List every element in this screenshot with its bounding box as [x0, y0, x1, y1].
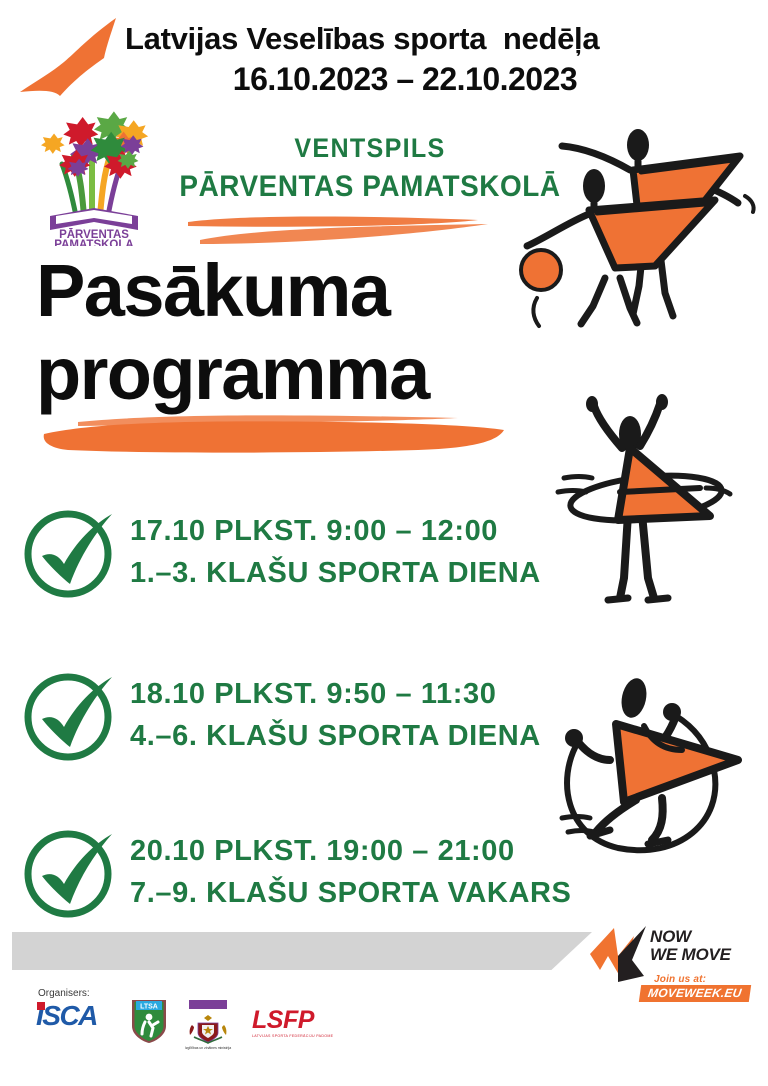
isca-red-dot-icon: [37, 1002, 45, 1010]
orange-swoosh-decoration: [178, 212, 508, 252]
figure-jump-rope-illustration: [552, 650, 766, 860]
green-check-circle-icon: [20, 500, 124, 604]
event-text: 20.10 PLKST. 19:00 – 21:00 7.–9. KLAŠU S…: [130, 830, 571, 914]
figure-hula-hoop-illustration: [550, 392, 760, 614]
green-check-circle-icon: [20, 663, 124, 767]
lsfp-wordmark: LSFP: [252, 1008, 344, 1033]
event-time: 20.10 PLKST. 19:00 – 21:00: [130, 830, 571, 872]
lsfp-subtitle: LATVIJAS SPORTA FEDERĀCIJU PADOME: [252, 1034, 344, 1038]
ministry-logo: Izglītības un zinātnes ministrija: [182, 998, 234, 1060]
nwm-line2: WE MOVE: [650, 946, 731, 964]
svg-text:LTSA: LTSA: [140, 1004, 158, 1011]
event-time: 17.10 PLKST. 9:00 – 12:00: [130, 510, 541, 552]
ministry-purple-bar: [189, 1000, 227, 1009]
main-title-line1: Pasākuma: [36, 250, 556, 333]
now-we-move-logo: NOW WE MOVE Join us at: MOVEWEEK.EU: [588, 922, 764, 1004]
orange-brush-stroke: [38, 406, 510, 458]
ministry-caption: Izglītības un zinātnes ministrija: [182, 1046, 234, 1051]
event-description: 7.–9. KLAŠU SPORTA VAKARS: [130, 872, 571, 914]
main-title: Pasākuma programma: [36, 250, 556, 416]
now-we-move-wordmark: NOW WE MOVE: [650, 928, 731, 964]
event-description: 4.–6. KLAŠU SPORTA DIENA: [130, 715, 541, 757]
isca-wordmark: ISCA: [36, 1002, 114, 1030]
event-item: 20.10 PLKST. 19:00 – 21:00 7.–9. KLAŠU S…: [20, 812, 640, 932]
isca-logo: ISCA: [36, 1002, 114, 1032]
event-dates: 16.10.2023 – 22.10.2023: [125, 62, 685, 98]
nwm-line1: NOW: [650, 928, 731, 946]
poster-root: Latvijas Veselības sporta nedēļa 16.10.2…: [0, 0, 768, 1086]
lsfp-logo: LSFP LATVIJAS SPORTA FEDERĀCIJU PADOME: [252, 1008, 344, 1040]
main-title-line2: programma: [36, 333, 556, 416]
footer-gray-bar: [12, 932, 592, 970]
join-us-label: Join us at:: [654, 974, 706, 985]
now-we-move-arrow-icon: [588, 926, 650, 982]
svg-text:PAMATSKOLA: PAMATSKOLA: [54, 239, 133, 246]
organiser-logos: ISCA LTSA Izglītības: [30, 998, 350, 1068]
event-time: 18.10 PLKST. 9:50 – 11:30: [130, 673, 541, 715]
page-title: Latvijas Veselības sporta nedēļa: [125, 22, 685, 57]
green-check-circle-icon: [20, 820, 124, 924]
parventas-pamatskola-logo: PĀRVENTAS PAMATSKOLA: [30, 104, 162, 246]
two-figures-with-ball-illustration: [505, 118, 768, 333]
moveweek-url[interactable]: MOVEWEEK.EU: [639, 985, 751, 1002]
orange-flag-icon: [18, 14, 126, 104]
ltsa-logo: LTSA: [130, 998, 168, 1044]
event-item: 17.10 PLKST. 9:00 – 12:00 1.–3. KLAŠU SP…: [20, 492, 640, 612]
event-text: 18.10 PLKST. 9:50 – 11:30 4.–6. KLAŠU SP…: [130, 673, 541, 757]
event-item: 18.10 PLKST. 9:50 – 11:30 4.–6. KLAŠU SP…: [20, 655, 640, 775]
event-description: 1.–3. KLAŠU SPORTA DIENA: [130, 552, 541, 594]
event-text: 17.10 PLKST. 9:00 – 12:00 1.–3. KLAŠU SP…: [130, 510, 541, 594]
